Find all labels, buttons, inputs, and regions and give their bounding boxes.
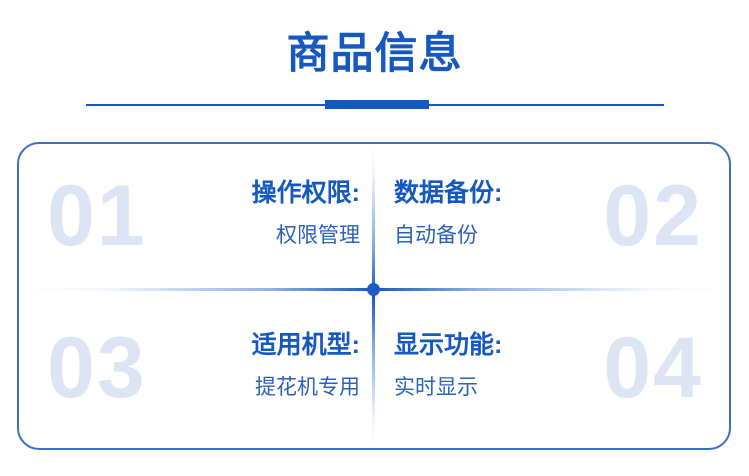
page-title: 商品信息	[0, 28, 749, 80]
info-item-1: 01 操作权限: 权限管理	[19, 144, 374, 296]
item-value: 权限管理	[252, 222, 360, 250]
item-text-block: 适用机型: 提花机专用	[252, 328, 360, 402]
item-text-block: 显示功能: 实时显示	[394, 328, 502, 402]
item-heading: 数据备份:	[394, 176, 502, 210]
item-number-watermark: 04	[603, 318, 703, 418]
item-number-watermark: 02	[603, 166, 703, 266]
product-info-card: 01 操作权限: 权限管理 02 数据备份: 自动备份 03 适用机型: 提花机…	[17, 142, 731, 450]
item-number-watermark: 03	[47, 318, 147, 418]
item-text-block: 操作权限: 权限管理	[252, 176, 360, 250]
item-number-watermark: 01	[47, 166, 147, 266]
item-heading: 显示功能:	[394, 328, 502, 362]
title-divider	[86, 100, 664, 110]
item-heading: 适用机型:	[252, 328, 360, 362]
item-value: 实时显示	[394, 374, 502, 402]
info-item-4: 04 显示功能: 实时显示	[374, 296, 729, 448]
item-heading: 操作权限:	[252, 176, 360, 210]
info-item-3: 03 适用机型: 提花机专用	[19, 296, 374, 448]
item-value: 提花机专用	[252, 374, 360, 402]
title-divider-thick-segment	[325, 100, 429, 109]
item-value: 自动备份	[394, 222, 502, 250]
page-header: 商品信息	[0, 0, 749, 130]
info-item-2: 02 数据备份: 自动备份	[374, 144, 729, 296]
item-text-block: 数据备份: 自动备份	[394, 176, 502, 250]
